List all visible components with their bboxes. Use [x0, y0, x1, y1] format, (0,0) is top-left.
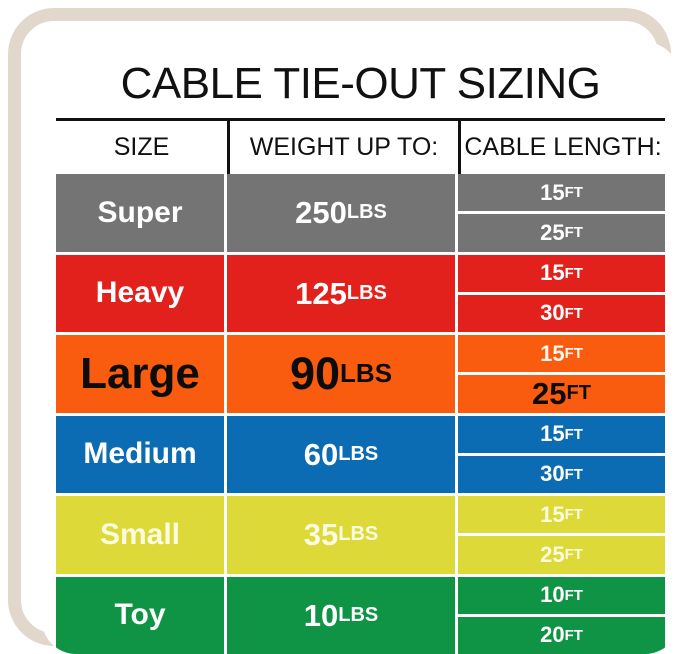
cable-length-option-secondary: 30FT	[458, 295, 665, 332]
cell-weight: 10LBS	[227, 577, 458, 654]
cable-length-value: 15	[540, 182, 564, 204]
cable-length-unit: FT	[565, 627, 583, 644]
cell-cable-length: 15FT30FT	[458, 255, 665, 333]
sizing-poster: CABLE TIE-OUT SIZING SIZE WEIGHT UP TO: …	[0, 0, 679, 654]
cable-length-option-secondary: 25FT	[458, 214, 665, 251]
cable-length-value: 15	[540, 423, 564, 445]
table-row: Toy10LBS10FT20FT	[56, 577, 665, 654]
table-header-row: SIZE WEIGHT UP TO: CABLE LENGTH:	[56, 121, 665, 174]
size-label: Heavy	[96, 278, 184, 308]
page-title-text: CABLE TIE-OUT SIZING	[121, 59, 601, 109]
cell-weight: 35LBS	[227, 496, 458, 574]
cable-length-option-secondary: 30FT	[458, 456, 665, 493]
cable-length-option-primary: 15FT	[458, 174, 665, 214]
cell-size: Large	[56, 335, 227, 413]
table-row: Small35LBS15FT25FT	[56, 496, 665, 577]
weight-value: 60	[304, 439, 338, 470]
table-row: Large90LBS15FT25FT	[56, 335, 665, 416]
cable-length-unit: FT	[565, 184, 583, 201]
cable-length-option-primary: 15FT	[458, 335, 665, 375]
table-row: Medium60LBS15FT30FT	[56, 416, 665, 497]
cable-length-option-primary: 15FT	[458, 416, 665, 456]
weight-value: 90	[290, 351, 340, 396]
cable-length-unit: FT	[565, 587, 583, 604]
cell-size: Small	[56, 496, 227, 574]
size-label: Super	[97, 198, 182, 228]
weight-unit: LBS	[338, 604, 378, 627]
cell-cable-length: 15FT30FT	[458, 416, 665, 494]
size-label: Small	[100, 520, 180, 550]
weight-unit: LBS	[338, 523, 378, 546]
cell-cable-length: 15FT25FT	[458, 496, 665, 574]
cable-length-option-primary: 15FT	[458, 255, 665, 295]
cable-length-value: 10	[540, 584, 564, 606]
header-cell-cable-length: CABLE LENGTH:	[458, 121, 665, 174]
cable-length-unit: FT	[565, 466, 583, 483]
cable-length-option-secondary: 25FT	[458, 536, 665, 573]
header-cell-weight: WEIGHT UP TO:	[227, 121, 458, 174]
table-row: Heavy125LBS15FT30FT	[56, 255, 665, 336]
cell-weight: 90LBS	[227, 335, 458, 413]
cable-length-value: 25	[532, 378, 566, 409]
cable-length-value: 15	[540, 504, 564, 526]
cable-length-unit: FT	[565, 426, 583, 443]
weight-value: 125	[295, 278, 347, 309]
cable-length-unit: FT	[565, 305, 583, 322]
sizing-table: SIZE WEIGHT UP TO: CABLE LENGTH: Super25…	[56, 118, 665, 654]
cable-length-value: 25	[540, 222, 564, 244]
cell-weight: 60LBS	[227, 416, 458, 494]
cable-length-unit: FT	[567, 382, 591, 405]
cell-size: Super	[56, 174, 227, 252]
cable-length-value: 15	[540, 343, 564, 365]
cell-size: Toy	[56, 577, 227, 654]
size-label: Medium	[83, 439, 196, 469]
cable-length-value: 15	[540, 262, 564, 284]
cell-size: Heavy	[56, 255, 227, 333]
weight-unit: LBS	[338, 443, 378, 466]
cable-length-unit: FT	[565, 224, 583, 241]
cable-length-option-secondary: 20FT	[458, 617, 665, 654]
cell-weight: 250LBS	[227, 174, 458, 252]
cable-length-value: 20	[540, 624, 564, 646]
cable-length-option-secondary: 25FT	[458, 375, 665, 412]
cell-size: Medium	[56, 416, 227, 494]
cell-cable-length: 15FT25FT	[458, 174, 665, 252]
weight-value: 10	[304, 600, 338, 631]
cell-cable-length: 15FT25FT	[458, 335, 665, 413]
table-body: Super250LBS15FT25FTHeavy125LBS15FT30FTLa…	[56, 174, 665, 654]
cable-length-value: 30	[540, 302, 564, 324]
table-row: Super250LBS15FT25FT	[56, 174, 665, 255]
cable-length-unit: FT	[565, 546, 583, 563]
size-label: Toy	[114, 600, 165, 630]
cell-cable-length: 10FT20FT	[458, 577, 665, 654]
cable-length-option-primary: 10FT	[458, 577, 665, 617]
header-cell-size: SIZE	[56, 121, 227, 174]
cable-length-unit: FT	[565, 506, 583, 523]
weight-value: 35	[304, 519, 338, 550]
cable-length-value: 25	[540, 544, 564, 566]
poster-frame: CABLE TIE-OUT SIZING SIZE WEIGHT UP TO: …	[8, 8, 671, 646]
weight-unit: LBS	[340, 358, 392, 389]
weight-value: 250	[295, 197, 347, 228]
size-label: Large	[80, 352, 200, 396]
weight-unit: LBS	[347, 282, 387, 305]
weight-unit: LBS	[347, 201, 387, 224]
poster-inner: CABLE TIE-OUT SIZING SIZE WEIGHT UP TO: …	[42, 42, 679, 654]
cable-length-option-primary: 15FT	[458, 496, 665, 536]
cable-length-unit: FT	[565, 345, 583, 362]
cable-length-value: 30	[540, 463, 564, 485]
cable-length-unit: FT	[565, 265, 583, 282]
cell-weight: 125LBS	[227, 255, 458, 333]
page-title: CABLE TIE-OUT SIZING	[42, 42, 679, 118]
